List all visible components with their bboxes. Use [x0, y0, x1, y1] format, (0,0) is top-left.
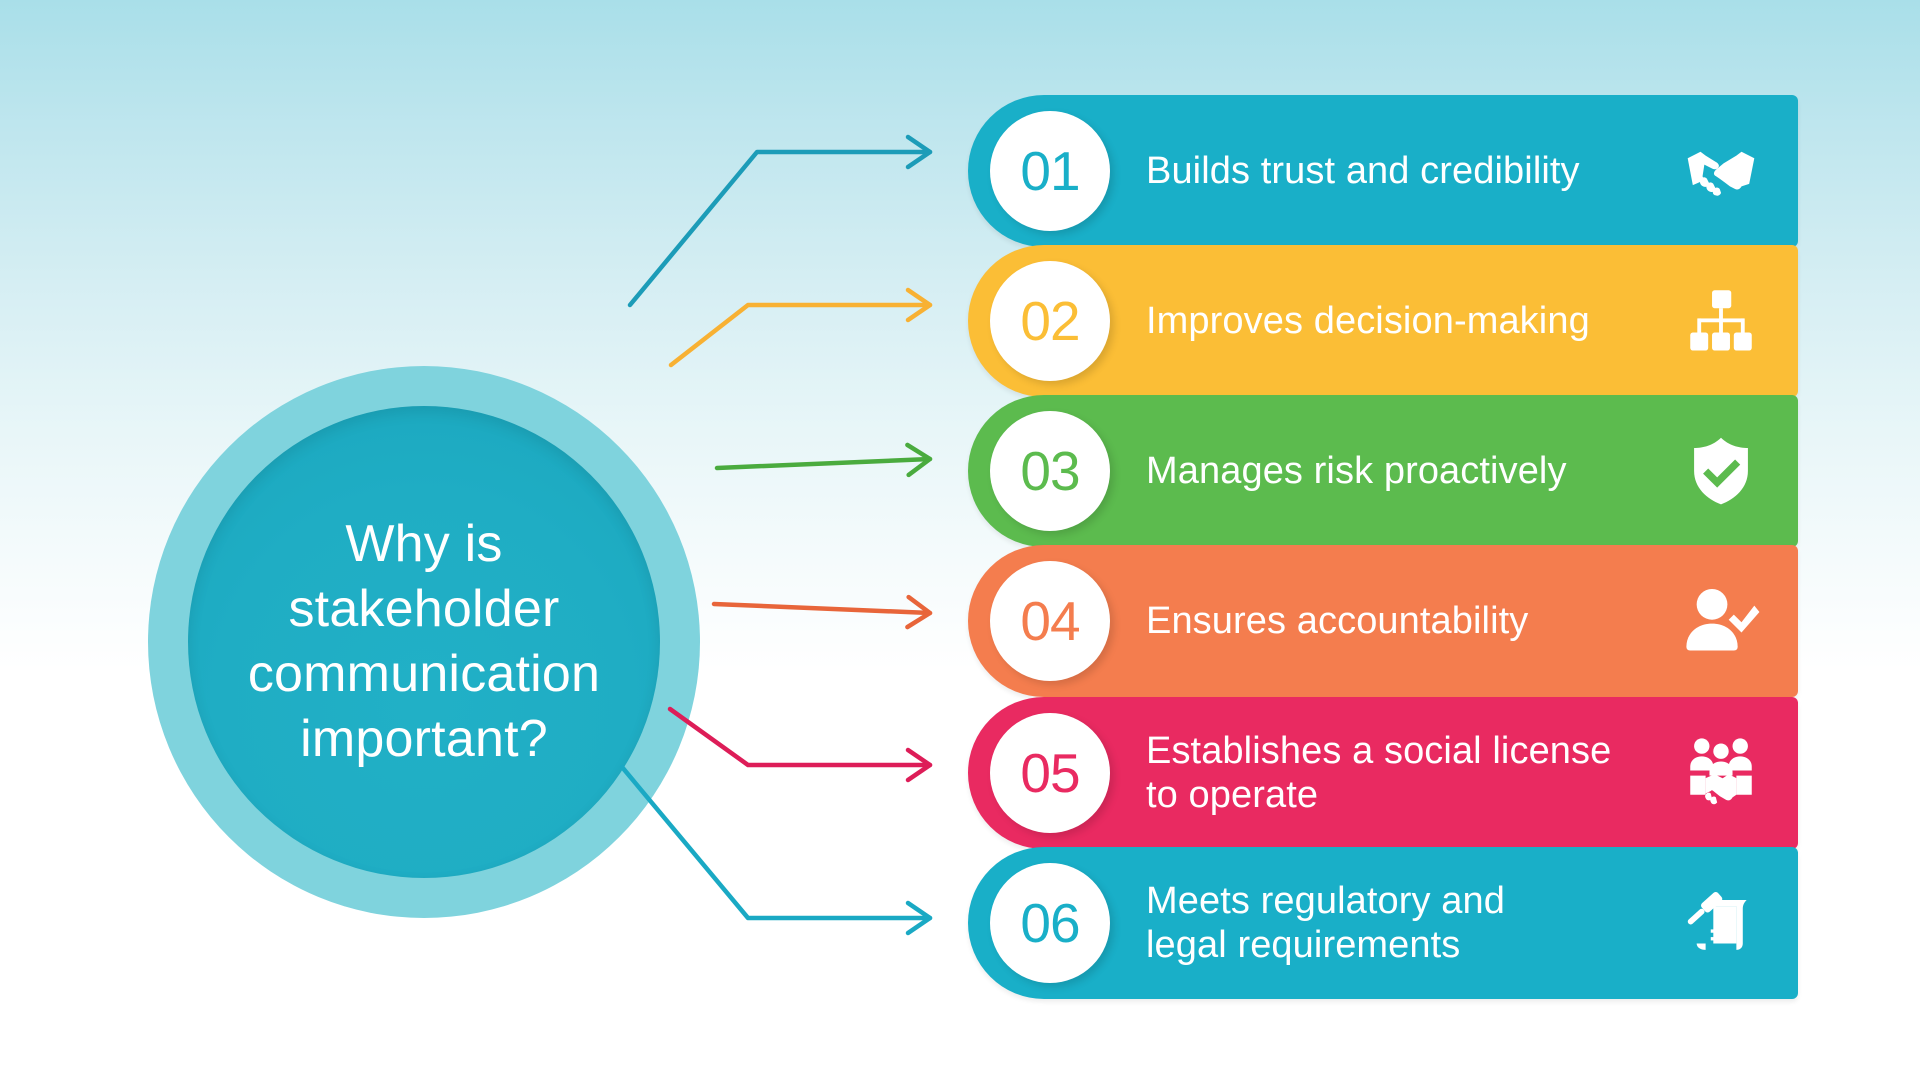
- item-label: Builds trust and credibility: [1146, 149, 1658, 193]
- handshake-icon: [1678, 128, 1764, 214]
- item-number-badge: 04: [990, 561, 1110, 681]
- item-label: Manages risk proactively: [1146, 449, 1658, 493]
- org-chart-icon: [1678, 278, 1764, 364]
- item-row[interactable]: 03Manages risk proactively: [968, 395, 1798, 547]
- item-row[interactable]: 02Improves decision-making: [968, 245, 1798, 397]
- item-label: Ensures accountability: [1146, 599, 1658, 643]
- item-number: 05: [1020, 746, 1079, 801]
- item-number: 06: [1020, 896, 1079, 951]
- item-number: 04: [1020, 594, 1079, 649]
- item-number: 03: [1020, 444, 1079, 499]
- item-row[interactable]: 04Ensures accountability: [968, 545, 1798, 697]
- item-number: 02: [1020, 294, 1079, 349]
- item-row[interactable]: 06Meets regulatory and legal requirement…: [968, 847, 1798, 999]
- item-label: Meets regulatory and legal requirements: [1146, 879, 1658, 967]
- infographic-canvas: Why is stakeholder communication importa…: [0, 0, 1920, 1080]
- item-number-badge: 05: [990, 713, 1110, 833]
- item-number-badge: 01: [990, 111, 1110, 231]
- item-label: Improves decision-making: [1146, 299, 1658, 343]
- item-list: 01Builds trust and credibility02Improves…: [0, 0, 1920, 1080]
- shield-check-icon: [1678, 428, 1764, 514]
- item-label: Establishes a social license to operate: [1146, 729, 1658, 817]
- team-handshake-icon: [1678, 730, 1764, 816]
- item-number-badge: 02: [990, 261, 1110, 381]
- person-check-icon: [1678, 578, 1764, 664]
- gavel-document-icon: [1678, 880, 1764, 966]
- item-row[interactable]: 05Establishes a social license to operat…: [968, 697, 1798, 849]
- item-number-badge: 03: [990, 411, 1110, 531]
- item-row[interactable]: 01Builds trust and credibility: [968, 95, 1798, 247]
- item-number: 01: [1020, 144, 1079, 199]
- item-number-badge: 06: [990, 863, 1110, 983]
